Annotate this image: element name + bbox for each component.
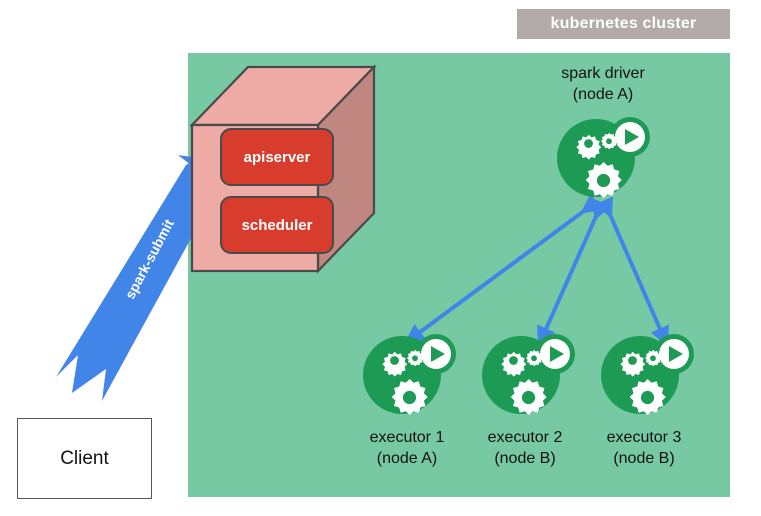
gears-play-icon <box>358 330 458 416</box>
executor-3-caption: executor 3 (node B) <box>564 428 724 470</box>
kubernetes-cluster-label: kubernetes cluster <box>517 9 730 39</box>
executor-1-node[interactable] <box>358 330 458 416</box>
double-arrow-icon <box>542 212 598 338</box>
diagram-canvas: kubernetes cluster spark-submit apiserve… <box>0 0 761 516</box>
client-box[interactable]: Client <box>17 418 152 499</box>
spark-driver-name: spark driver <box>523 64 683 85</box>
double-arrow-icon <box>412 208 588 338</box>
spark-driver-node-id: (node A) <box>523 85 683 106</box>
spark-driver-caption: spark driver (node A) <box>523 64 683 106</box>
gears-play-icon <box>552 113 652 199</box>
pod-apiserver[interactable]: apiserver <box>220 128 334 186</box>
pod-scheduler[interactable]: scheduler <box>220 196 334 254</box>
executor-3-name: executor 3 <box>564 428 724 449</box>
spark-driver-node[interactable] <box>552 113 652 199</box>
executor-3-node-id: (node B) <box>564 449 724 470</box>
gears-play-icon <box>596 330 696 416</box>
gears-play-icon <box>477 330 577 416</box>
executor-3-node[interactable] <box>596 330 696 416</box>
client-label: Client <box>60 448 109 470</box>
executor-2-node[interactable] <box>477 330 577 416</box>
double-arrow-icon <box>608 210 664 338</box>
